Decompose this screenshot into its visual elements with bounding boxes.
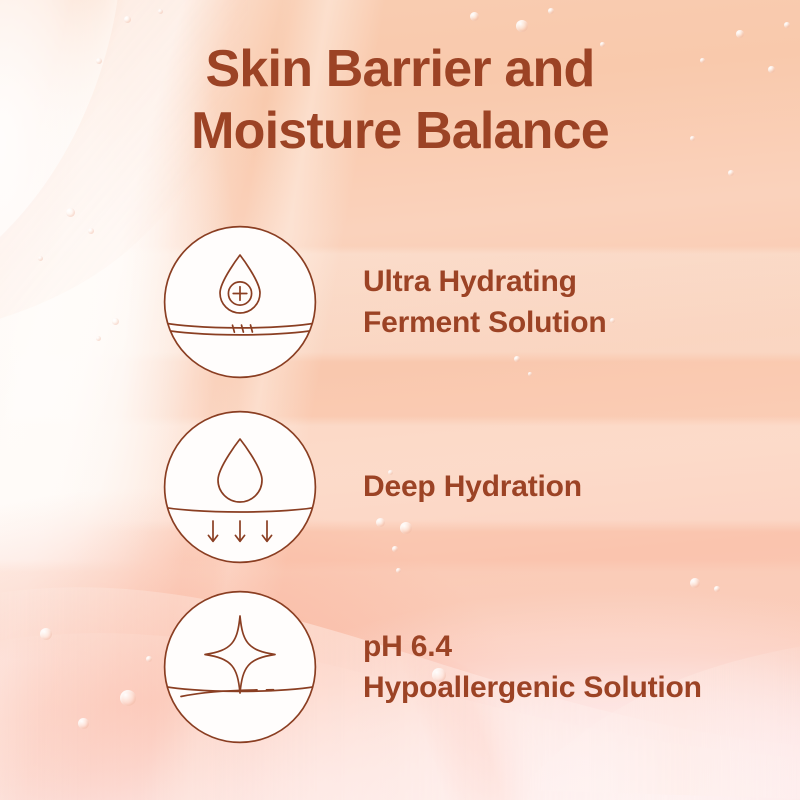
droplet-plus-barrier-icon xyxy=(163,225,317,379)
feature-2-line-1: Deep Hydration xyxy=(363,466,582,507)
title-line-1: Skin Barrier and xyxy=(0,38,800,100)
title-line-2: Moisture Balance xyxy=(0,100,800,162)
feature-1-line-2: Ferment Solution xyxy=(363,302,606,343)
feature-row-hypoallergenic: pH 6.4 Hypoallergenic Solution xyxy=(0,587,800,747)
feature-3-line-2: Hypoallergenic Solution xyxy=(363,667,702,708)
bubble-11 xyxy=(66,208,75,217)
bubble-16 xyxy=(728,170,734,176)
sparkle-gentle-surface-icon xyxy=(163,590,317,744)
bubble-4 xyxy=(516,20,528,32)
feature-1-line-1: Ultra Hydrating xyxy=(363,261,606,302)
feature-row-deep-hydration: Deep Hydration xyxy=(0,407,800,567)
feature-label-hypoallergenic: pH 6.4 Hypoallergenic Solution xyxy=(363,626,702,709)
bubble-5 xyxy=(548,8,554,14)
poster-title: Skin Barrier and Moisture Balance xyxy=(0,38,800,163)
droplet-down-arrows-icon xyxy=(163,410,317,564)
bubble-0 xyxy=(124,16,131,23)
feature-label-ultra-hydrating: Ultra Hydrating Ferment Solution xyxy=(363,261,606,344)
bubble-7 xyxy=(736,30,744,38)
feature-3-line-1: pH 6.4 xyxy=(363,626,702,667)
feature-row-ultra-hydrating: Ultra Hydrating Ferment Solution xyxy=(0,222,800,382)
bubble-25 xyxy=(396,568,401,573)
bubble-8 xyxy=(784,22,790,28)
droplet-down-arrows-icon-svg xyxy=(163,410,317,564)
droplet-plus-barrier-icon-svg xyxy=(163,225,317,379)
bubble-1 xyxy=(158,9,163,14)
sparkle-gentle-surface-icon-svg xyxy=(163,590,317,744)
bubble-3 xyxy=(470,12,479,21)
feature-label-deep-hydration: Deep Hydration xyxy=(363,466,582,507)
infographic-poster: Skin Barrier and Moisture Balance xyxy=(0,0,800,800)
